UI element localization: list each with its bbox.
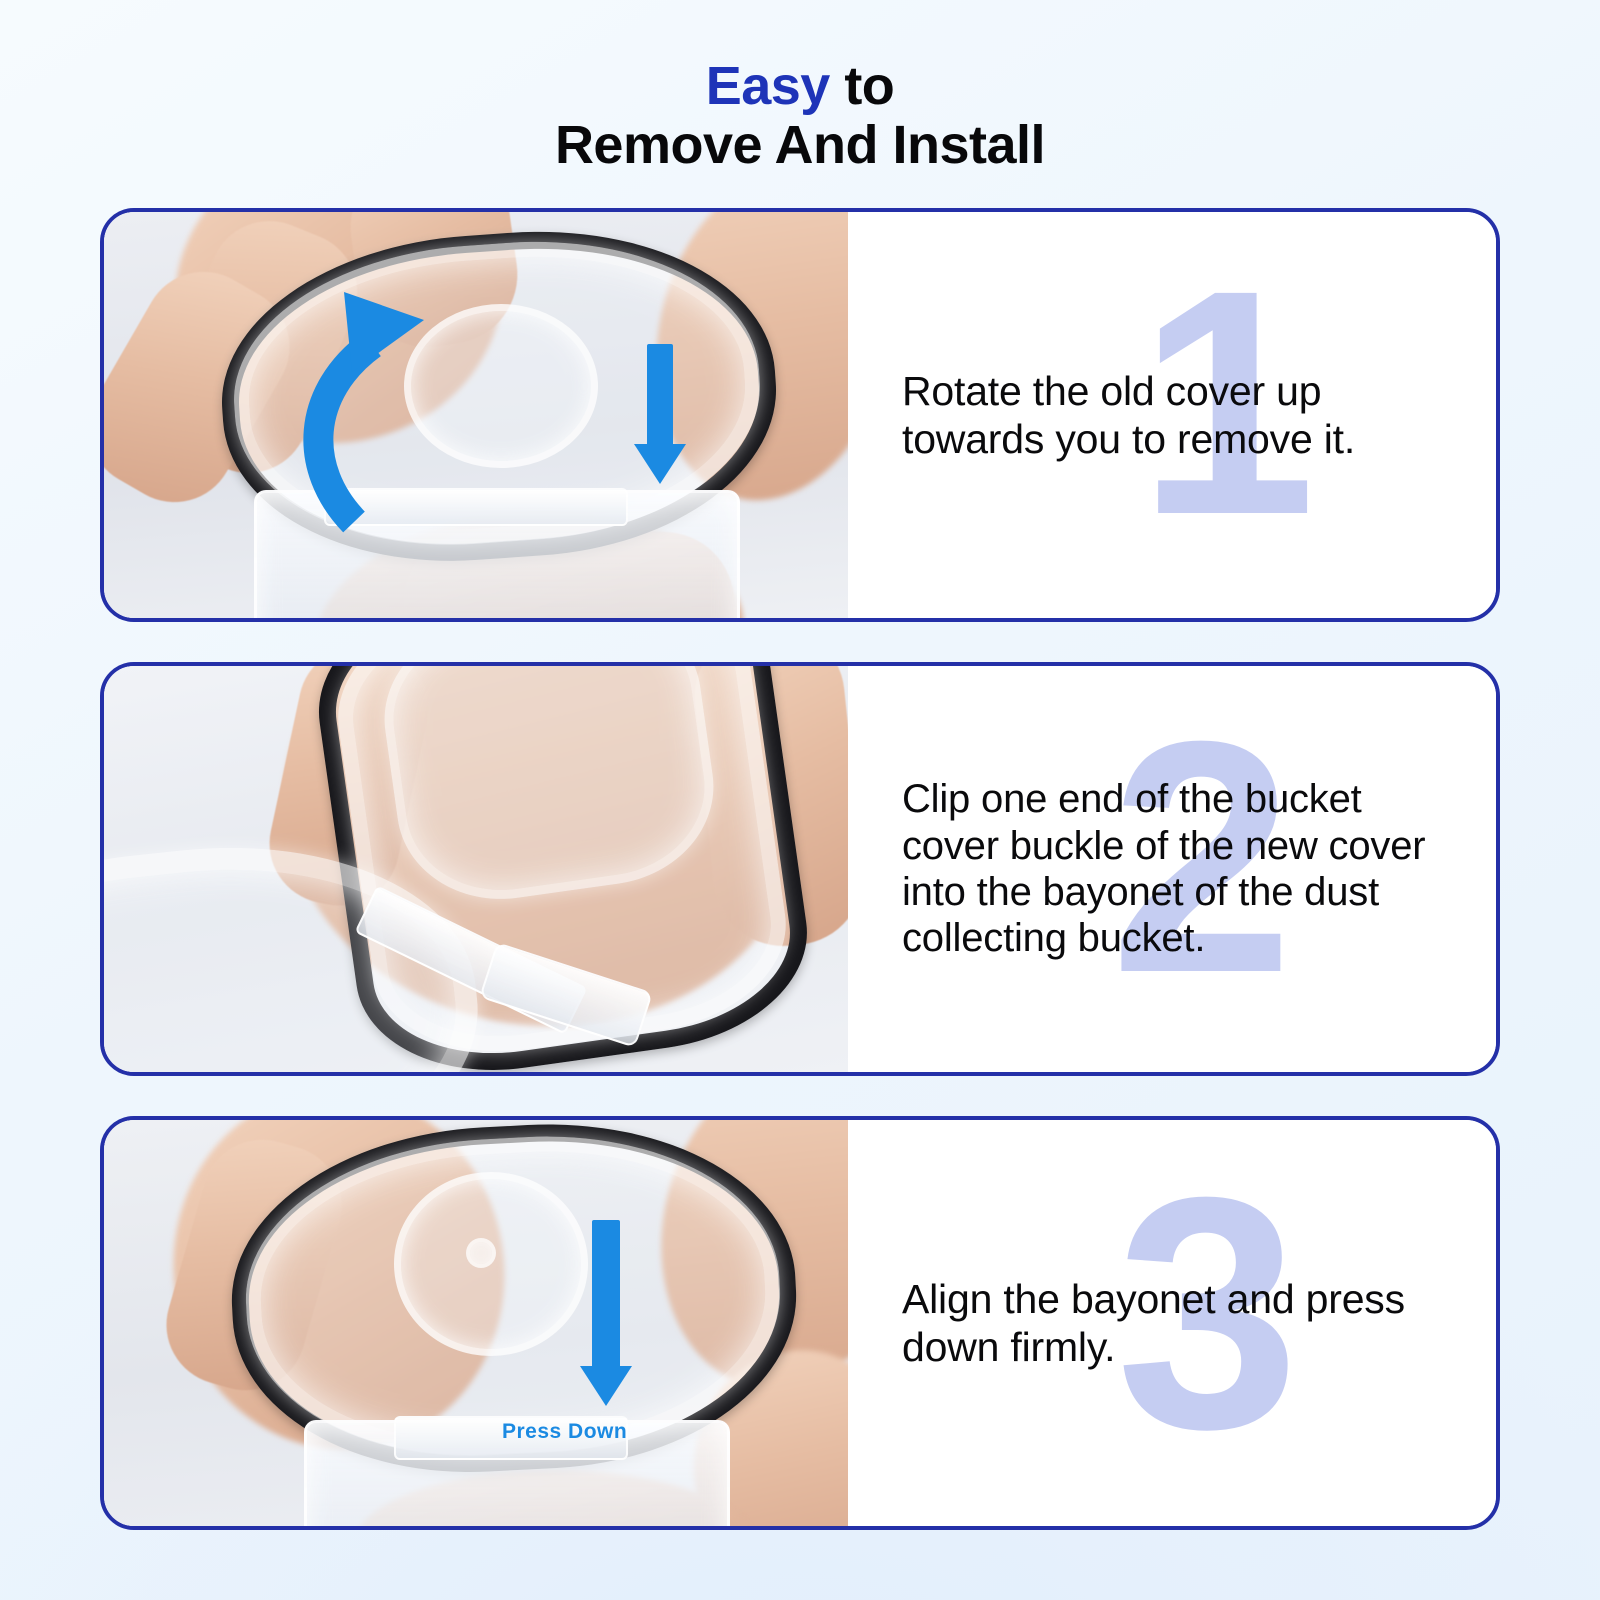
step-description-2: Clip one end of the bucket cover buckle …	[902, 776, 1447, 962]
step-description-3: Align the bayonet and press down firmly.	[902, 1275, 1447, 1372]
press-down-arrow	[574, 1220, 638, 1420]
release-down-arrow	[630, 344, 690, 494]
step-photo-1	[104, 212, 848, 618]
title-word-easy: Easy	[706, 56, 830, 116]
rotate-up-arrow	[244, 272, 544, 542]
cover-center-nub	[466, 1238, 496, 1268]
press-down-label: Press Down	[502, 1420, 627, 1444]
step-description-1: Rotate the old cover up towards you to r…	[902, 367, 1447, 464]
step-text-panel-1: 1 Rotate the old cover up towards you to…	[848, 212, 1496, 618]
steps-list: 1 Rotate the old cover up towards you to…	[100, 208, 1500, 1570]
page-header: Easy to Remove And Install	[0, 0, 1600, 175]
step-text-panel-3: 3 Align the bayonet and press down firml…	[848, 1120, 1496, 1526]
step-photo-3: Press Down	[104, 1120, 848, 1526]
step-card-3: Press Down 3 Align the bayonet and press…	[100, 1116, 1500, 1530]
title-line-1: Easy to	[0, 58, 1600, 115]
title-line-2: Remove And Install	[0, 115, 1600, 175]
step-photo-2	[104, 666, 848, 1072]
step-card-1: 1 Rotate the old cover up towards you to…	[100, 208, 1500, 622]
title-word-to: to	[844, 56, 894, 116]
step-text-panel-2: 2 Clip one end of the bucket cover buckl…	[848, 666, 1496, 1072]
step-card-2: 2 Clip one end of the bucket cover buckl…	[100, 662, 1500, 1076]
